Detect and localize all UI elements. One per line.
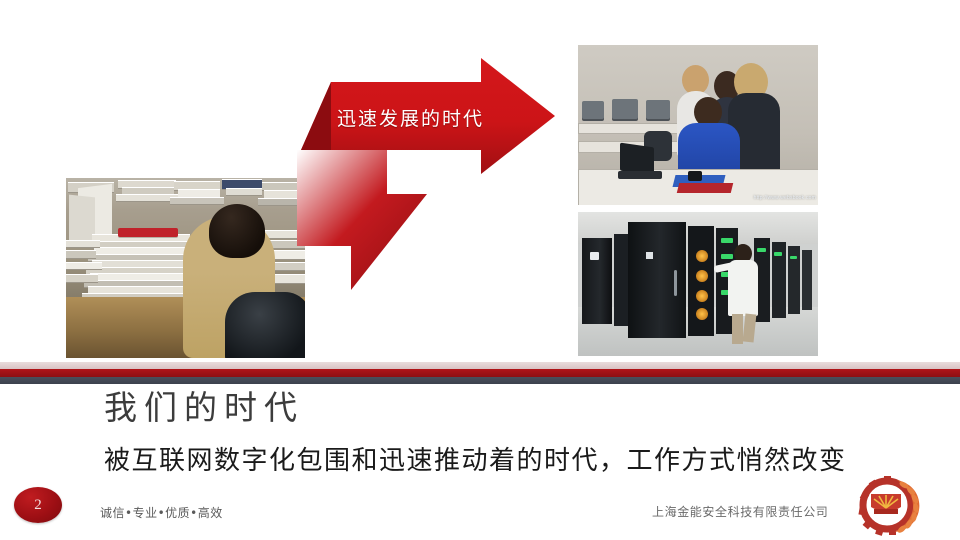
page-subtitle: 被互联网数字化包围和迅速推动着的时代，工作方式悄然改变: [104, 440, 847, 477]
page-title: 我们的时代: [104, 381, 304, 429]
desk-paper: [226, 188, 262, 196]
background-monitor: [582, 101, 604, 119]
background-monitor: [612, 99, 638, 119]
divider-bar-red: [0, 369, 960, 377]
company-logo-icon: [857, 474, 923, 536]
rack-status-light: [790, 256, 797, 259]
desk-paper: [66, 262, 102, 270]
slide-canvas: http://www.websbook.com: [0, 0, 960, 540]
rack-indicator: [646, 252, 653, 259]
footer-company-name: 上海金能安全科技有限责任公司: [652, 503, 828, 520]
desk-paper: [116, 194, 178, 202]
rack-status-light: [696, 290, 708, 302]
background-monitor: [646, 100, 670, 119]
server-rack: [614, 234, 628, 326]
footer-slogan: 诚信•专业•优质•高效: [100, 504, 223, 521]
rack-indicator: [590, 252, 599, 260]
rack-status-light: [696, 250, 708, 262]
page-number-text: 2: [14, 487, 62, 523]
server-rack-foreground: [628, 222, 686, 338]
desk-red-folder: [118, 228, 178, 237]
divider-bar-pink: [0, 362, 960, 369]
page-number-badge: 2: [14, 487, 62, 523]
desk-person-head: [209, 204, 265, 258]
cluttered-desk-photo: [66, 178, 305, 358]
server-rack: [802, 250, 812, 310]
desk-paper: [66, 250, 96, 259]
rack-status-light: [696, 308, 708, 320]
image-watermark: http://www.websbook.com: [754, 195, 816, 201]
technician-leg: [732, 314, 743, 344]
arrow-label: 迅速发展的时代: [337, 104, 527, 131]
desk-paper: [66, 274, 98, 283]
desk-paper: [170, 197, 224, 205]
rack-status-light: [757, 248, 766, 252]
rack-status-light: [721, 238, 733, 243]
classroom-laptop-photo: http://www.websbook.com: [578, 45, 818, 205]
desk-office-chair: [225, 292, 305, 358]
red-arrow-group: 迅速发展的时代: [285, 58, 555, 288]
smartphone: [688, 171, 702, 181]
laptop-base: [618, 171, 662, 179]
background-table: [578, 123, 692, 134]
red-folder: [677, 183, 733, 193]
desk-paper: [66, 240, 100, 248]
rack-status-light: [774, 252, 782, 256]
data-center-photo: [578, 212, 818, 356]
rack-handle: [674, 270, 677, 296]
rack-status-light: [696, 270, 708, 282]
rack-status-light: [721, 254, 733, 259]
server-rack: [582, 238, 612, 324]
